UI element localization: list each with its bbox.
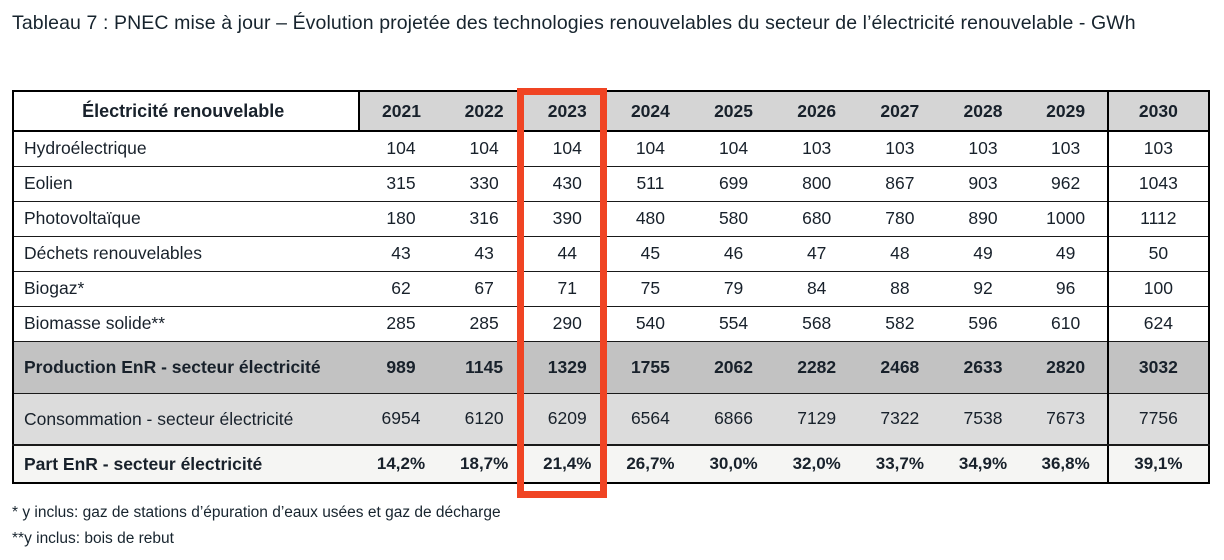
- table-row-part-enr: Part EnR - secteur électricité 14,2% 18,…: [13, 445, 1209, 483]
- cell-2029: 96: [1025, 271, 1108, 306]
- footnote-biomasse: **y inclus: bois de rebut: [12, 526, 912, 552]
- cell-2027: 780: [858, 201, 941, 236]
- cell-2025: 699: [692, 166, 775, 201]
- cell-2029: 103: [1025, 131, 1108, 166]
- renewable-electricity-table: Électricité renouvelable 2021 2022 2023 …: [12, 90, 1210, 484]
- cell-2029: 1000: [1025, 201, 1108, 236]
- cell-2028: 92: [941, 271, 1024, 306]
- cell-2030: 1112: [1108, 201, 1209, 236]
- table-row-photovoltaique: Photovoltaïque 180 316 390 480 580 680 7…: [13, 201, 1209, 236]
- table-row-biomasse-solide: Biomasse solide** 285 285 290 540 554 56…: [13, 306, 1209, 341]
- cell-2021: 43: [359, 236, 442, 271]
- cell-2024: 540: [609, 306, 692, 341]
- cell-2022: 285: [443, 306, 526, 341]
- cell-2028: 49: [941, 236, 1024, 271]
- cell-2030: 50: [1108, 236, 1209, 271]
- cell-2029: 36,8%: [1025, 445, 1108, 483]
- cell-2024: 75: [609, 271, 692, 306]
- cell-2026: 7129: [775, 393, 858, 445]
- row-label: Hydroélectrique: [13, 131, 359, 166]
- row-label: Consommation - secteur électricité: [13, 393, 359, 445]
- corner-header-cell: Électricité renouvelable: [13, 91, 359, 131]
- cell-2023: 44: [526, 236, 609, 271]
- cell-2030: 39,1%: [1108, 445, 1209, 483]
- row-label: Part EnR - secteur électricité: [13, 445, 359, 483]
- column-header-2028: 2028: [941, 91, 1024, 131]
- cell-2023: 290: [526, 306, 609, 341]
- cell-2025: 580: [692, 201, 775, 236]
- column-header-2030: 2030: [1108, 91, 1209, 131]
- cell-2027: 2468: [858, 341, 941, 393]
- cell-2027: 88: [858, 271, 941, 306]
- cell-2022: 330: [443, 166, 526, 201]
- cell-2029: 610: [1025, 306, 1108, 341]
- table-row-consommation: Consommation - secteur électricité 6954 …: [13, 393, 1209, 445]
- cell-2025: 6866: [692, 393, 775, 445]
- cell-2022: 316: [443, 201, 526, 236]
- column-header-2025: 2025: [692, 91, 775, 131]
- column-header-2021: 2021: [359, 91, 442, 131]
- cell-2027: 103: [858, 131, 941, 166]
- cell-2023: 390: [526, 201, 609, 236]
- column-header-2022: 2022: [443, 91, 526, 131]
- cell-2024: 6564: [609, 393, 692, 445]
- row-label: Photovoltaïque: [13, 201, 359, 236]
- cell-2030: 624: [1108, 306, 1209, 341]
- cell-2026: 568: [775, 306, 858, 341]
- cell-2021: 104: [359, 131, 442, 166]
- cell-2023: 1329: [526, 341, 609, 393]
- cell-2028: 903: [941, 166, 1024, 201]
- cell-2027: 48: [858, 236, 941, 271]
- cell-2030: 3032: [1108, 341, 1209, 393]
- cell-2025: 46: [692, 236, 775, 271]
- cell-2026: 800: [775, 166, 858, 201]
- cell-2029: 2820: [1025, 341, 1108, 393]
- row-label: Biogaz*: [13, 271, 359, 306]
- cell-2024: 480: [609, 201, 692, 236]
- table-row-dechets-renouvelables: Déchets renouvelables 43 43 44 45 46 47 …: [13, 236, 1209, 271]
- cell-2028: 7538: [941, 393, 1024, 445]
- cell-2026: 47: [775, 236, 858, 271]
- table-body: Hydroélectrique 104 104 104 104 104 103 …: [13, 131, 1209, 483]
- cell-2029: 962: [1025, 166, 1108, 201]
- column-header-2027: 2027: [858, 91, 941, 131]
- cell-2022: 67: [443, 271, 526, 306]
- cell-2023: 21,4%: [526, 445, 609, 483]
- footnotes: * y inclus: gaz de stations d’épuration …: [12, 500, 912, 552]
- header-row: Électricité renouvelable 2021 2022 2023 …: [13, 91, 1209, 131]
- footnote-biogaz: * y inclus: gaz de stations d’épuration …: [12, 500, 912, 526]
- cell-2021: 315: [359, 166, 442, 201]
- column-header-2029: 2029: [1025, 91, 1108, 131]
- cell-2024: 511: [609, 166, 692, 201]
- cell-2022: 6120: [443, 393, 526, 445]
- cell-2022: 1145: [443, 341, 526, 393]
- cell-2030: 1043: [1108, 166, 1209, 201]
- table-caption: Tableau 7 : PNEC mise à jour – Évolution…: [12, 8, 1197, 38]
- cell-2024: 1755: [609, 341, 692, 393]
- cell-2026: 32,0%: [775, 445, 858, 483]
- row-label: Déchets renouvelables: [13, 236, 359, 271]
- cell-2026: 680: [775, 201, 858, 236]
- row-label: Eolien: [13, 166, 359, 201]
- column-header-2023: 2023: [526, 91, 609, 131]
- cell-2028: 103: [941, 131, 1024, 166]
- cell-2030: 7756: [1108, 393, 1209, 445]
- cell-2024: 45: [609, 236, 692, 271]
- cell-2021: 285: [359, 306, 442, 341]
- cell-2027: 33,7%: [858, 445, 941, 483]
- cell-2025: 79: [692, 271, 775, 306]
- cell-2022: 104: [443, 131, 526, 166]
- cell-2023: 430: [526, 166, 609, 201]
- table-row-production-enr: Production EnR - secteur électricité 989…: [13, 341, 1209, 393]
- cell-2026: 2282: [775, 341, 858, 393]
- page-root: Tableau 7 : PNEC mise à jour – Évolution…: [0, 0, 1224, 560]
- cell-2023: 71: [526, 271, 609, 306]
- table-container: Électricité renouvelable 2021 2022 2023 …: [12, 90, 1210, 484]
- cell-2022: 18,7%: [443, 445, 526, 483]
- cell-2028: 890: [941, 201, 1024, 236]
- cell-2025: 554: [692, 306, 775, 341]
- cell-2024: 104: [609, 131, 692, 166]
- cell-2025: 30,0%: [692, 445, 775, 483]
- cell-2025: 2062: [692, 341, 775, 393]
- cell-2028: 596: [941, 306, 1024, 341]
- cell-2021: 14,2%: [359, 445, 442, 483]
- cell-2021: 62: [359, 271, 442, 306]
- cell-2030: 100: [1108, 271, 1209, 306]
- table-row-eolien: Eolien 315 330 430 511 699 800 867 903 9…: [13, 166, 1209, 201]
- cell-2023: 104: [526, 131, 609, 166]
- cell-2027: 7322: [858, 393, 941, 445]
- cell-2021: 6954: [359, 393, 442, 445]
- table-header: Électricité renouvelable 2021 2022 2023 …: [13, 91, 1209, 131]
- table-row-hydroelectrique: Hydroélectrique 104 104 104 104 104 103 …: [13, 131, 1209, 166]
- cell-2024: 26,7%: [609, 445, 692, 483]
- cell-2028: 34,9%: [941, 445, 1024, 483]
- cell-2025: 104: [692, 131, 775, 166]
- cell-2030: 103: [1108, 131, 1209, 166]
- cell-2021: 180: [359, 201, 442, 236]
- cell-2027: 582: [858, 306, 941, 341]
- column-header-2024: 2024: [609, 91, 692, 131]
- cell-2026: 103: [775, 131, 858, 166]
- cell-2021: 989: [359, 341, 442, 393]
- cell-2026: 84: [775, 271, 858, 306]
- cell-2023: 6209: [526, 393, 609, 445]
- row-label: Production EnR - secteur électricité: [13, 341, 359, 393]
- cell-2027: 867: [858, 166, 941, 201]
- row-label: Biomasse solide**: [13, 306, 359, 341]
- cell-2029: 7673: [1025, 393, 1108, 445]
- cell-2028: 2633: [941, 341, 1024, 393]
- table-row-biogaz: Biogaz* 62 67 71 75 79 84 88 92 96 100: [13, 271, 1209, 306]
- column-header-2026: 2026: [775, 91, 858, 131]
- cell-2029: 49: [1025, 236, 1108, 271]
- cell-2022: 43: [443, 236, 526, 271]
